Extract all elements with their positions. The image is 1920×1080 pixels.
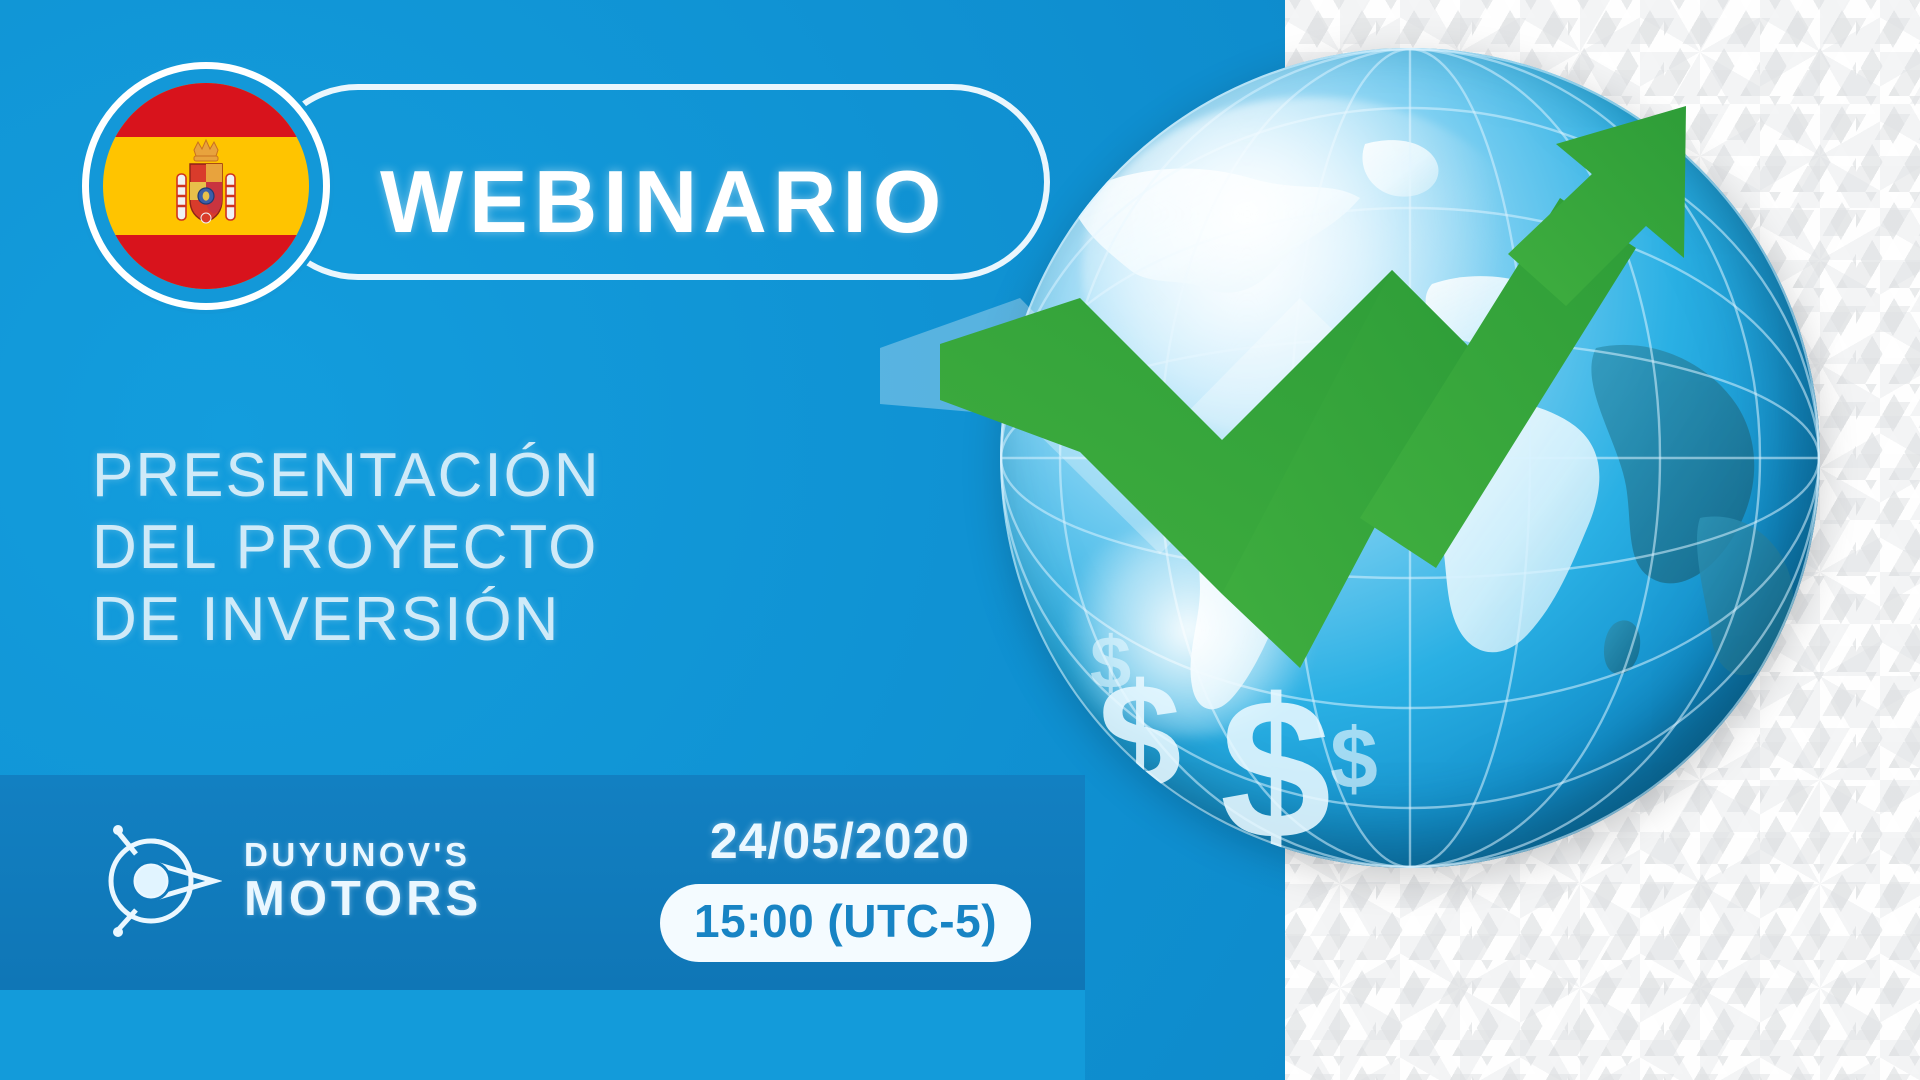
flag-band-bottom bbox=[103, 235, 309, 289]
spain-flag-icon bbox=[82, 62, 330, 310]
headline-line-1: PRESENTACIÓN bbox=[92, 440, 601, 512]
brand-logo: DUYUNOV'S MOTORS bbox=[96, 818, 482, 944]
webinar-badge: WEBINARIO bbox=[70, 62, 1080, 302]
flag-band-top bbox=[103, 83, 309, 137]
headline-line-2: DEL PROYECTO bbox=[92, 512, 601, 584]
page-title: PRESENTACIÓN DEL PROYECTO DE INVERSIÓN bbox=[92, 440, 601, 656]
event-datetime: 24/05/2020 15:00 (UTC-5) bbox=[660, 812, 1020, 962]
webinar-badge-label: WEBINARIO bbox=[380, 158, 947, 246]
growth-arrow-icon bbox=[1000, 48, 1840, 888]
globe-graphic: $ $ $ $ bbox=[1000, 48, 1840, 888]
event-date: 24/05/2020 bbox=[660, 812, 1020, 870]
brand-logo-line-2: MOTORS bbox=[244, 875, 482, 924]
bottom-band bbox=[0, 990, 1085, 1080]
webinar-banner: $ $ $ $ bbox=[0, 0, 1920, 1080]
brand-logo-line-1: DUYUNOV'S bbox=[244, 838, 482, 871]
headline-line-3: DE INVERSIÓN bbox=[92, 584, 601, 656]
spain-coat-of-arms-icon bbox=[169, 134, 243, 238]
duyunov-motors-emblem-icon bbox=[96, 818, 222, 944]
event-time-badge: 15:00 (UTC-5) bbox=[660, 884, 1031, 962]
